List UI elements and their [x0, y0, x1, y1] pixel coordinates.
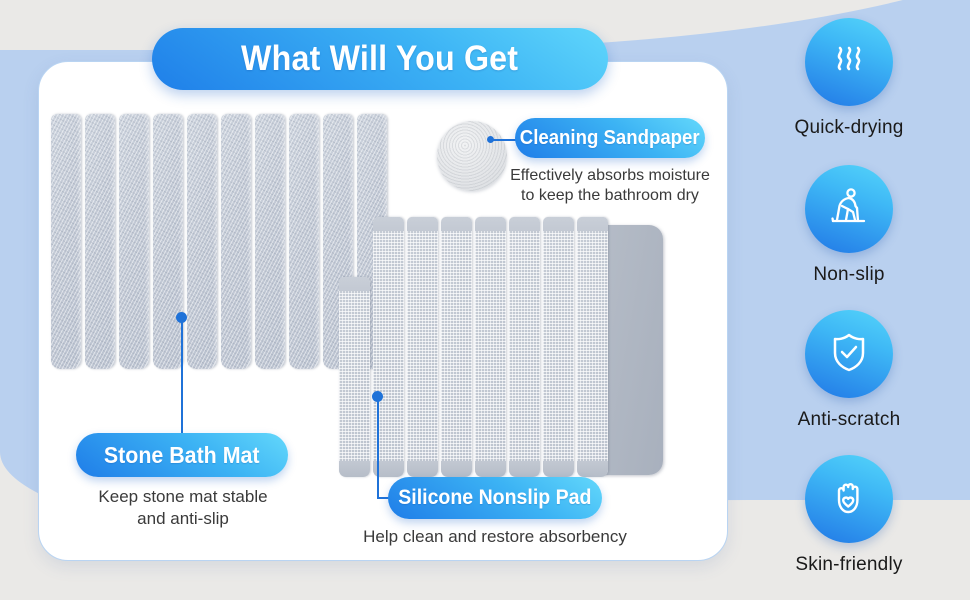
connector-line-silicone-vertical [377, 399, 379, 499]
silicone-nonslip-pad [543, 217, 574, 477]
hand-heart-icon [825, 473, 873, 526]
feature-label-anti-scratch: Anti-scratch [798, 409, 901, 431]
title-banner: What Will You Get [152, 28, 608, 90]
callout-caption-silicone-nonslip-pad: Help clean and restore absorbency [344, 526, 646, 548]
callout-label-cleaning-sandpaper: Cleaning Sandpaper [520, 127, 700, 150]
silicone-nonslip-pad [407, 217, 438, 477]
silicone-nonslip-pad [577, 217, 608, 477]
feature-icon-circle-skin-friendly [805, 455, 893, 543]
feature-label-skin-friendly: Skin-friendly [795, 554, 902, 576]
stone-mat-strip [187, 114, 217, 369]
silicone-backing-pad [601, 225, 663, 475]
stone-mat-strip [85, 114, 115, 369]
feature-item-quick-drying[interactable]: Quick-drying [728, 18, 970, 139]
infographic-canvas: Cleaning Sandpaper Effectively absorbs m… [0, 0, 970, 600]
feature-label-non-slip: Non-slip [813, 264, 884, 286]
stone-mat-strip [153, 114, 183, 369]
callout-pill-cleaning-sandpaper[interactable]: Cleaning Sandpaper [515, 118, 705, 158]
feature-item-non-slip[interactable]: Non-slip [728, 165, 970, 286]
stone-mat-strip [255, 114, 285, 369]
stone-mat-strip [289, 114, 319, 369]
stone-mat-strip [119, 114, 149, 369]
silicone-nonslip-pad [339, 277, 370, 477]
callout-label-stone-bath-mat: Stone Bath Mat [104, 442, 260, 469]
feature-icon-circle-anti-scratch [805, 310, 893, 398]
skier-icon [824, 182, 874, 237]
feature-label-quick-drying: Quick-drying [794, 117, 903, 139]
silicone-nonslip-pad [475, 217, 506, 477]
feature-icon-circle-non-slip [805, 165, 893, 253]
callout-label-silicone-nonslip-pad: Silicone Nonslip Pad [398, 486, 591, 510]
steam-waves-icon [826, 37, 872, 88]
shield-check-icon [825, 328, 873, 381]
callout-caption-stone-bath-mat: Keep stone mat stable and anti-slip [55, 486, 311, 530]
feature-list: Quick-drying [728, 0, 970, 600]
feature-icon-circle-quick-drying [805, 18, 893, 106]
product-card: Cleaning Sandpaper Effectively absorbs m… [38, 61, 728, 561]
feature-item-skin-friendly[interactable]: Skin-friendly [728, 455, 970, 576]
stone-mat-strip [51, 114, 81, 369]
page-title: What Will You Get [241, 39, 518, 79]
connector-line-stone-mat [181, 320, 183, 438]
callout-pill-stone-bath-mat[interactable]: Stone Bath Mat [76, 433, 288, 477]
silicone-nonslip-pad [509, 217, 540, 477]
callout-caption-cleaning-sandpaper: Effectively absorbs moisture to keep the… [485, 166, 728, 207]
stone-mat-strip [221, 114, 251, 369]
silicone-nonslip-pad [441, 217, 472, 477]
callout-pill-silicone-nonslip-pad[interactable]: Silicone Nonslip Pad [388, 477, 602, 519]
feature-item-anti-scratch[interactable]: Anti-scratch [728, 310, 970, 431]
